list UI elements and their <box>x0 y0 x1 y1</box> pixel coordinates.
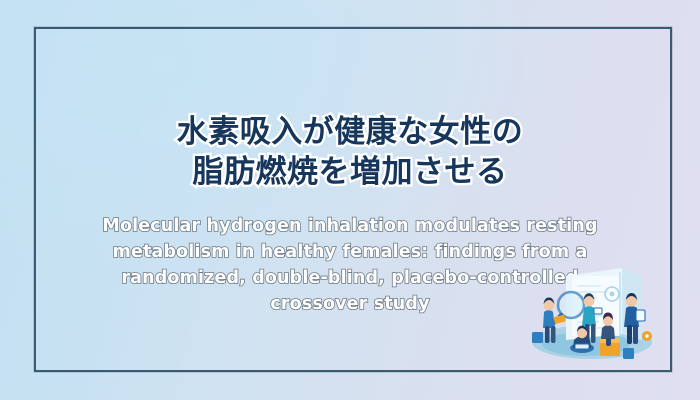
thumbnail-canvas: 水素吸入が健康な女性の 脂肪燃焼を増加させる Molecular hydroge… <box>0 0 700 400</box>
card-border-frame <box>34 27 672 372</box>
